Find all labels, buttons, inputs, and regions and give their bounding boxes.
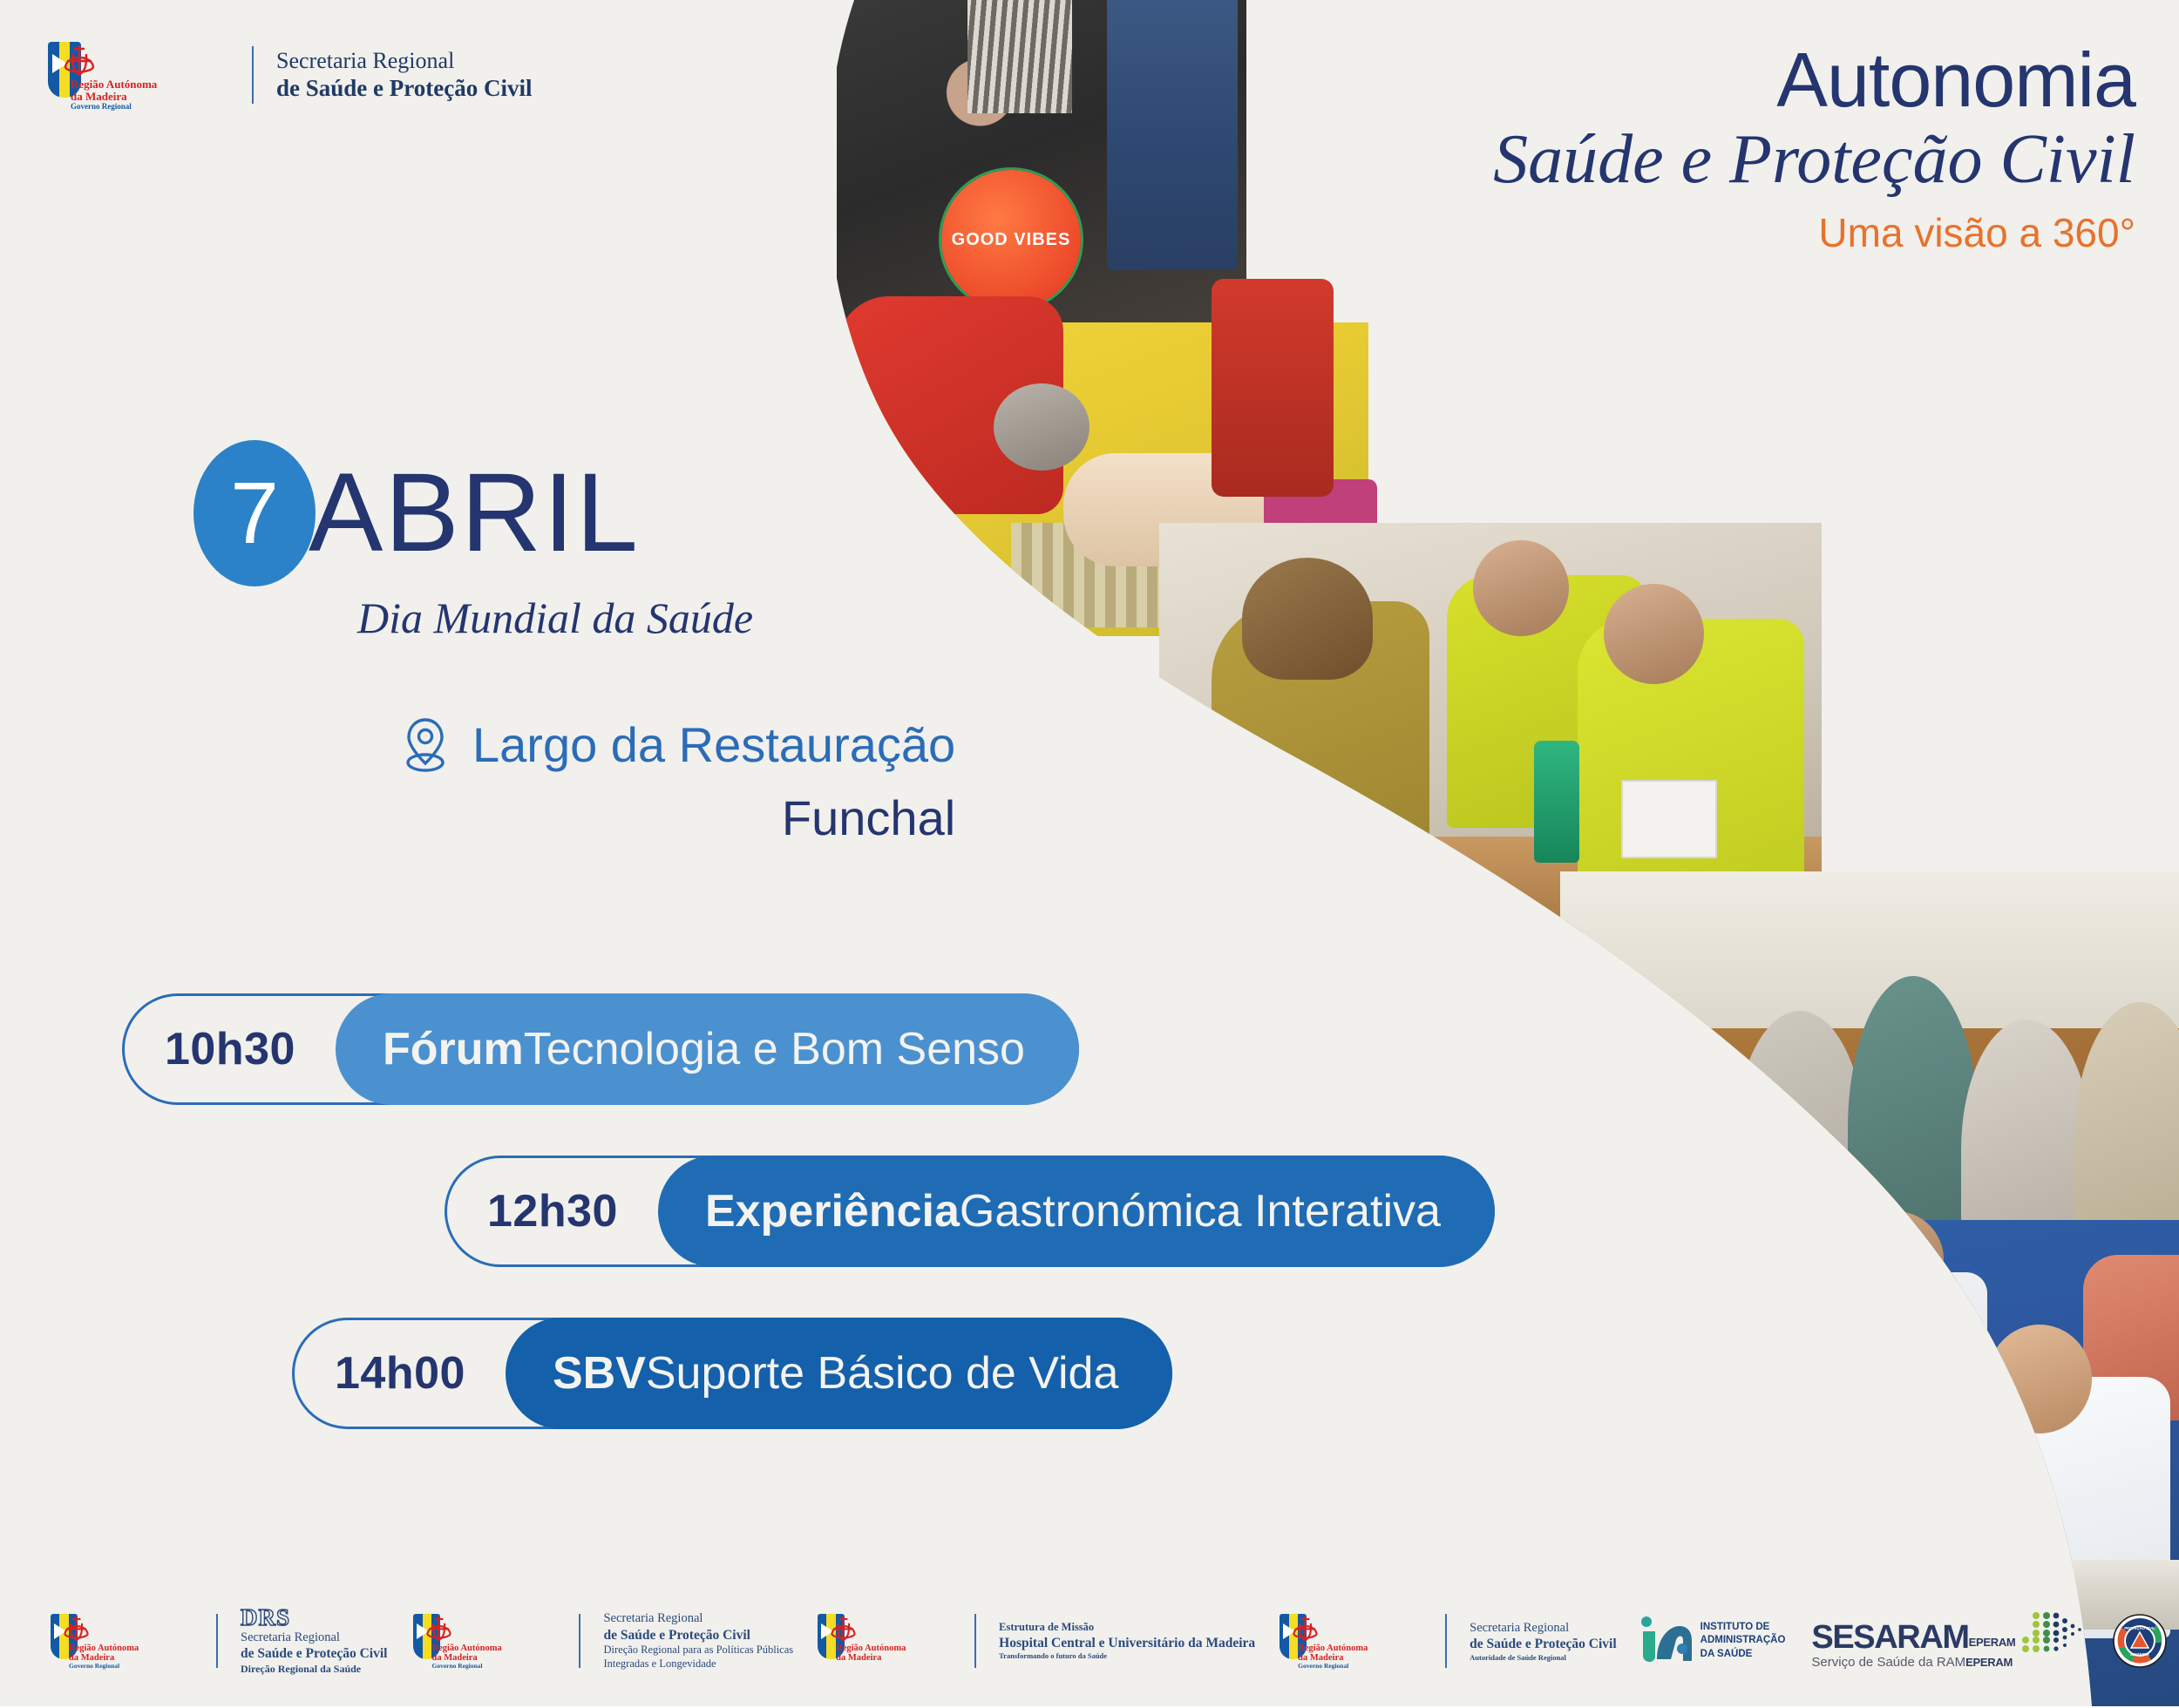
schedule-title-rest: Gastronómica Interativa	[960, 1185, 1441, 1237]
footer-line3: Direção Regional para as Políticas Públi…	[603, 1644, 793, 1657]
svg-text:PROTEÇÃO CIVIL: PROTEÇÃO CIVIL	[2125, 1626, 2156, 1630]
footer-line2: de Saúde e Proteção Civil	[1470, 1636, 1616, 1653]
footer-line1: Estrutura de Missão	[999, 1621, 1255, 1635]
ias-logo-icon	[1639, 1614, 1694, 1668]
map-pin-icon	[401, 715, 450, 776]
schedule-item[interactable]: 12h30 Experiência Gastronómica Interativ…	[445, 1156, 1360, 1267]
protecao-civil-emblem-icon: PROTEÇÃO CIVIL MADEIRA	[2113, 1614, 2167, 1668]
coat-line3: Governo Regional	[69, 1663, 139, 1670]
drs-wordmark: DRS	[241, 1606, 387, 1630]
page-tagline: Uma visão a 360°	[1493, 206, 2135, 260]
footer-logo-hospital: Região Autónoma da Madeira Estrutura de …	[818, 1614, 1255, 1668]
schedule-time: 12h30	[447, 1158, 658, 1264]
madeira-coat-of-arms-icon: Região Autónoma da Madeira	[818, 1614, 859, 1668]
footer-line2: de Saúde e Proteção Civil	[241, 1645, 387, 1663]
secretariat-name: Secretaria Regional de Saúde e Proteção …	[276, 47, 532, 104]
ias-line1: INSTITUTO DE	[1700, 1621, 1786, 1634]
sesaram-subtitle: Serviço de Saúde da RAMEPERAM	[1811, 1655, 2015, 1671]
coat-of-arms-line3: Governo Regional	[71, 103, 157, 112]
logo-divider	[216, 1614, 218, 1668]
coat-line1: Região Autónoma	[1298, 1644, 1368, 1653]
footer-logo-autoridade-saude: Região Autónoma da Madeira Governo Regio…	[1280, 1614, 1616, 1668]
photo-good-vibes: GOOD VIBES	[837, 0, 1246, 349]
secretariat-line2: de Saúde e Proteção Civil	[276, 74, 532, 103]
schedule-title-bold: Fórum	[383, 1023, 524, 1075]
schedule-title-bold: Experiência	[705, 1185, 960, 1237]
coat-of-arms-line2: da Madeira	[71, 91, 157, 103]
footer-logo-politicas-publicas: Região Autónoma da Madeira Governo Regio…	[413, 1610, 793, 1671]
schedule-item[interactable]: 14h00 SBV Suporte Básico de Vida	[292, 1318, 1360, 1429]
footer-logo-text: Secretaria Regional de Saúde e Proteção …	[603, 1610, 793, 1671]
schedule-time: 10h30	[125, 996, 336, 1102]
footer-logo-text: Secretaria Regional de Saúde e Proteção …	[1470, 1620, 1616, 1662]
schedule-title-rest: Tecnologia e Bom Senso	[524, 1023, 1025, 1075]
madeira-coat-of-arms-icon: Região Autónoma da Madeira Governo Regio…	[413, 1614, 455, 1668]
photo-health-screening	[1159, 523, 1822, 932]
logo-divider	[579, 1614, 580, 1668]
photo-auditorium	[1560, 871, 2179, 1281]
header-divider	[252, 46, 254, 104]
coat-line1: Região Autónoma	[431, 1644, 501, 1653]
footer-line2: Hospital Central e Universitário da Made…	[999, 1635, 1255, 1652]
schedule-time: 14h00	[295, 1320, 506, 1427]
footer-logo-drs: Região Autónoma da Madeira Governo Regio…	[51, 1606, 387, 1676]
madeira-coat-of-arms-icon: Região Autónoma da Madeira Governo Regio…	[51, 1614, 92, 1668]
observance-label: Dia Mundial da Saúde	[357, 593, 753, 643]
schedule-title: SBV Suporte Básico de Vida	[506, 1318, 1172, 1429]
schedule-pill[interactable]: 14h00 SBV Suporte Básico de Vida	[292, 1318, 1172, 1429]
coat-line1: Região Autónoma	[69, 1644, 139, 1653]
coat-line3: Governo Regional	[431, 1663, 501, 1670]
page-subtitle: Saúde e Proteção Civil	[1493, 119, 2135, 200]
sesaram-wordmark: SESARAM	[1811, 1623, 1968, 1652]
schedule-title: Fórum Tecnologia e Bom Senso	[336, 993, 1079, 1105]
footer-logo-text: DRS Secretaria Regional de Saúde e Prote…	[241, 1606, 387, 1676]
footer-line3: Autoridade de Saúde Regional	[1470, 1653, 1616, 1663]
schedule-list: 10h30 Fórum Tecnologia e Bom Senso 12h30…	[0, 993, 1360, 1429]
title-block: Autonomia Saúde e Proteção Civil Uma vis…	[1493, 42, 2135, 260]
footer-logo-text: Estrutura de Missão Hospital Central e U…	[999, 1621, 1255, 1661]
good-vibes-disc: GOOD VIBES	[941, 170, 1081, 309]
schedule-title-rest: Suporte Básico de Vida	[646, 1347, 1119, 1400]
dot-matrix-icon	[2017, 1610, 2085, 1659]
ias-logo-text: INSTITUTO DE ADMINISTRAÇÃO DA SAÚDE	[1700, 1621, 1786, 1661]
photo-cpr-demo	[811, 322, 1368, 636]
footer-line1: Secretaria Regional	[1470, 1620, 1616, 1636]
logo-divider	[1445, 1614, 1447, 1668]
footer-logo-ias: INSTITUTO DE ADMINISTRAÇÃO DA SAÚDE	[1639, 1614, 1786, 1668]
coat-line3: Governo Regional	[1298, 1663, 1368, 1670]
logo-divider	[974, 1614, 976, 1668]
footer-line3: Direção Regional da Saúde	[241, 1663, 387, 1676]
schedule-pill[interactable]: 10h30 Fórum Tecnologia e Bom Senso	[122, 993, 1079, 1105]
page-title: Autonomia	[1493, 42, 2135, 119]
madeira-coat-of-arms-icon: Região Autónoma da Madeira Governo Regio…	[1280, 1614, 1321, 1668]
ias-line2: ADMINISTRAÇÃO	[1700, 1634, 1786, 1647]
schedule-pill[interactable]: 12h30 Experiência Gastronómica Interativ…	[445, 1156, 1495, 1267]
venue-name: Largo da Restauração	[472, 720, 955, 771]
sesaram-superscript: EPERAM	[1969, 1636, 2016, 1649]
footer-line1: Secretaria Regional	[603, 1610, 793, 1626]
ias-line3: DA SAÚDE	[1700, 1648, 1786, 1661]
schedule-title: Experiência Gastronómica Interativa	[658, 1156, 1495, 1267]
svg-text:MADEIRA: MADEIRA	[2131, 1652, 2150, 1657]
footer-logo-sesaram: SESARAM EPERAM Serviço de Saúde da RAMEP…	[1811, 1610, 2085, 1671]
sesaram-sub-main: Serviço de Saúde da RAM	[1811, 1655, 1965, 1670]
footer-line2: de Saúde e Proteção Civil	[603, 1627, 793, 1644]
header-brand: Região Autónoma da Madeira Governo Regio…	[48, 42, 532, 108]
coat-line1: Região Autónoma	[836, 1644, 906, 1653]
schedule-title-bold: SBV	[553, 1347, 646, 1400]
coat-line2: da Madeira	[836, 1653, 906, 1663]
sesaram-sub-sup: EPERAM	[1965, 1656, 2013, 1669]
footer-line1: Secretaria Regional	[241, 1630, 387, 1645]
schedule-item[interactable]: 10h30 Fórum Tecnologia e Bom Senso	[122, 993, 1360, 1105]
footer-line3: Transformando o futuro da Saúde	[999, 1651, 1255, 1661]
secretariat-line1: Secretaria Regional	[276, 47, 532, 75]
coat-of-arms-line1: Região Autónoma	[71, 78, 157, 91]
day-badge: 7	[193, 440, 316, 586]
footer-partner-logos: Região Autónoma da Madeira Governo Regio…	[0, 1576, 2179, 1706]
city-name: Funchal	[401, 790, 955, 846]
madeira-coat-of-arms-icon: Região Autónoma da Madeira Governo Regio…	[48, 42, 98, 108]
event-location: Largo da Restauração Funchal	[401, 715, 955, 846]
event-date: 7 ABRIL	[193, 440, 640, 586]
month-label: ABRIL	[309, 457, 640, 569]
good-vibes-text: GOOD VIBES	[952, 229, 1071, 251]
footer-line4: Integradas e Longevidade	[603, 1657, 793, 1671]
